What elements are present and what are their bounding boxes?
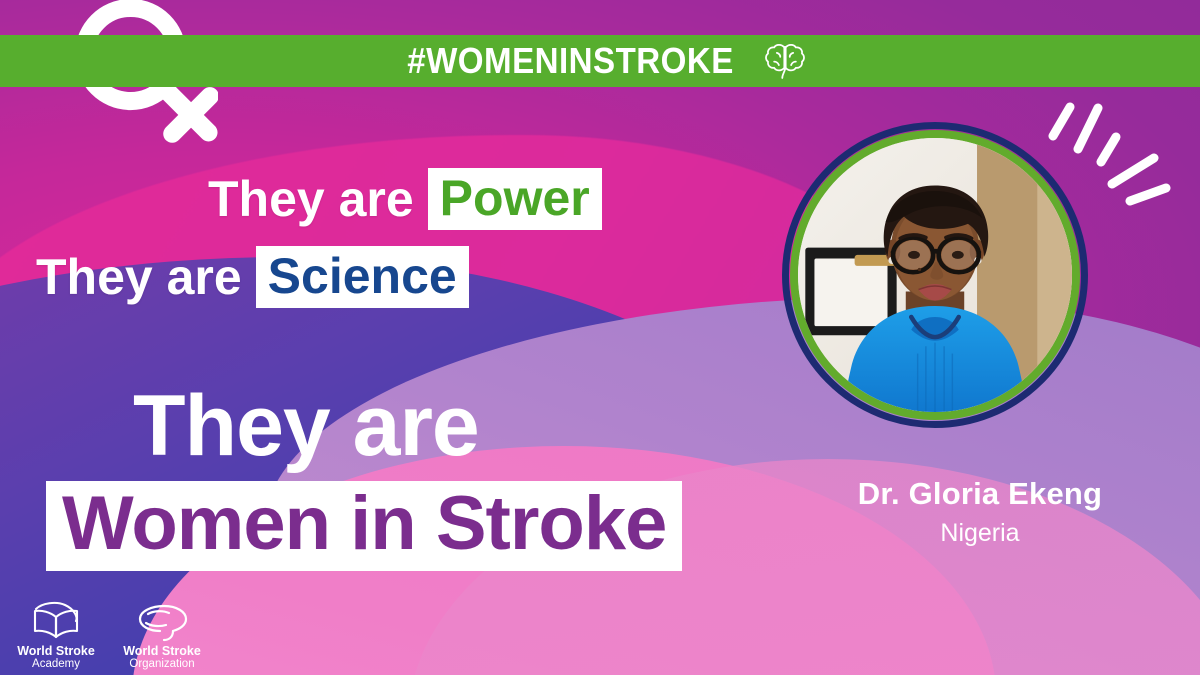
hashtag-banner: #WOMENINSTROKE — [0, 35, 1200, 87]
headline-group: They are Women in Stroke — [0, 383, 760, 571]
speaker-country: Nigeria — [760, 519, 1200, 548]
womeninstroke-poster: #WOMENINSTROKE They are Power They are S… — [0, 0, 1200, 675]
organization-logo-line2: Organization — [116, 658, 208, 671]
brain-swoosh-icon — [116, 599, 208, 643]
sparkle-lines-icon — [1040, 96, 1190, 206]
slogan-plain-1: They are — [208, 170, 414, 228]
headline-bottom: Women in Stroke — [62, 486, 666, 562]
slogan-plain-2: They are — [36, 248, 242, 306]
academy-logo-line1: World Stroke — [10, 645, 102, 658]
speaker-caption: Dr. Gloria Ekeng Nigeria — [760, 476, 1200, 548]
speaker-name: Dr. Gloria Ekeng — [760, 476, 1200, 512]
organization-logo-line1: World Stroke — [116, 645, 208, 658]
headline-top: They are — [0, 383, 760, 469]
logo-world-stroke-academy: World Stroke Academy — [10, 599, 102, 671]
book-swoosh-icon — [10, 599, 102, 643]
venus-symbol-icon — [28, 0, 218, 178]
slogan-group: They are Power They are Science — [0, 168, 780, 308]
hashtag-text: #WOMENINSTROKE — [408, 40, 735, 82]
portrait-photo — [798, 138, 1072, 412]
academy-logo-line2: Academy — [10, 658, 102, 671]
headline-bottom-bar: Women in Stroke — [46, 481, 682, 571]
logo-world-stroke-organization: World Stroke Organization — [116, 599, 208, 671]
logo-group: World Stroke Academy World Stroke Organi… — [10, 599, 208, 671]
slogan-highlight-science: Science — [256, 246, 469, 308]
slogan-line-power: They are Power — [0, 168, 780, 230]
slogan-line-science: They are Science — [0, 246, 780, 308]
brain-icon — [763, 42, 807, 80]
slogan-highlight-power: Power — [428, 168, 602, 230]
